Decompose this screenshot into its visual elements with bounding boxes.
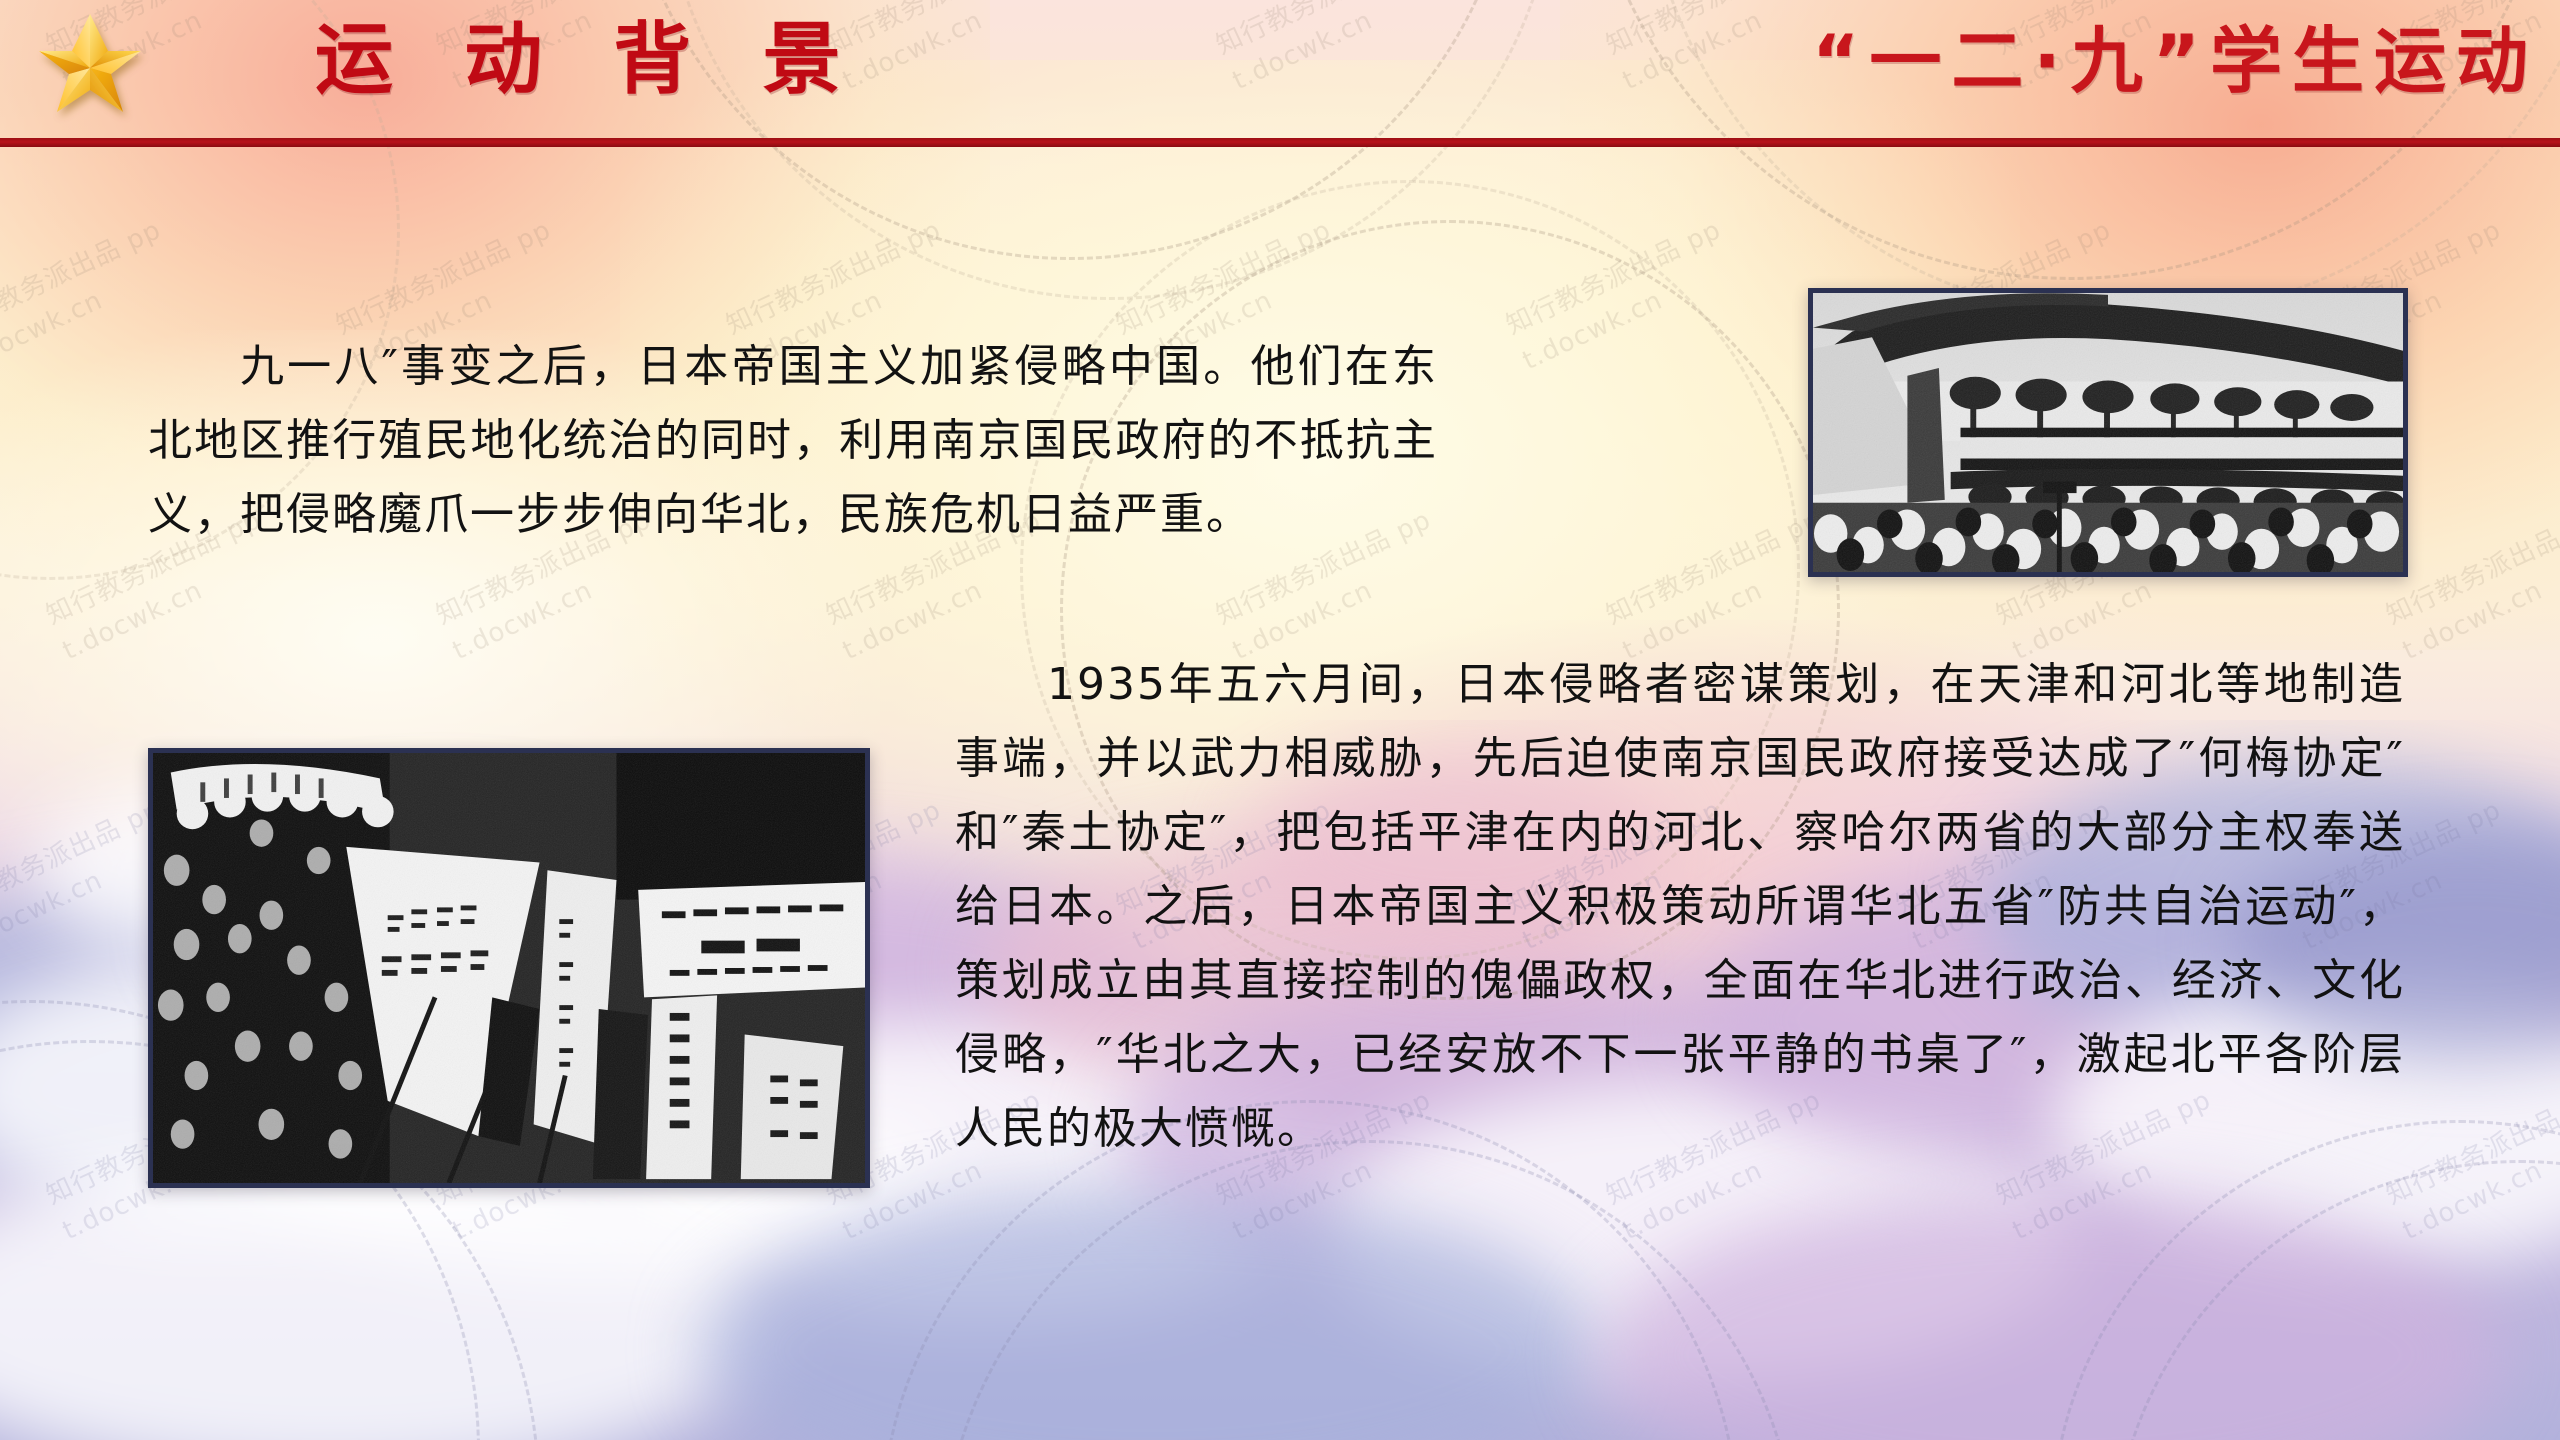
body-paragraph-2: 1935年五六月间，日本侵略者密谋策划，在天津和河北等地制造事端，并以武力相威胁… — [955, 648, 2405, 1166]
photo-image-building-crowd — [1813, 293, 2403, 572]
gold-star-icon — [16, 6, 164, 128]
historical-photo-bottom-left — [148, 748, 870, 1188]
historical-photo-top-right — [1808, 288, 2408, 577]
deck-title: “一二·九”学生运动 — [1812, 8, 2538, 114]
slide-root: 知行教务派出品t.docwk.cn 知行教务派出品t.docwk.cn 知行教务… — [0, 0, 2560, 1440]
body-paragraph-1: 九一八″事变之后，日本帝国主义加紧侵略中国。他们在东北地区推行殖民地化统治的同时… — [148, 330, 1438, 552]
slide-header: 运 动 背 景 “一二·九”学生运动 — [0, 0, 2560, 128]
header-divider — [0, 138, 2560, 147]
page-title: 运 动 背 景 — [315, 6, 862, 114]
photo-image-student-demonstration — [153, 753, 865, 1183]
